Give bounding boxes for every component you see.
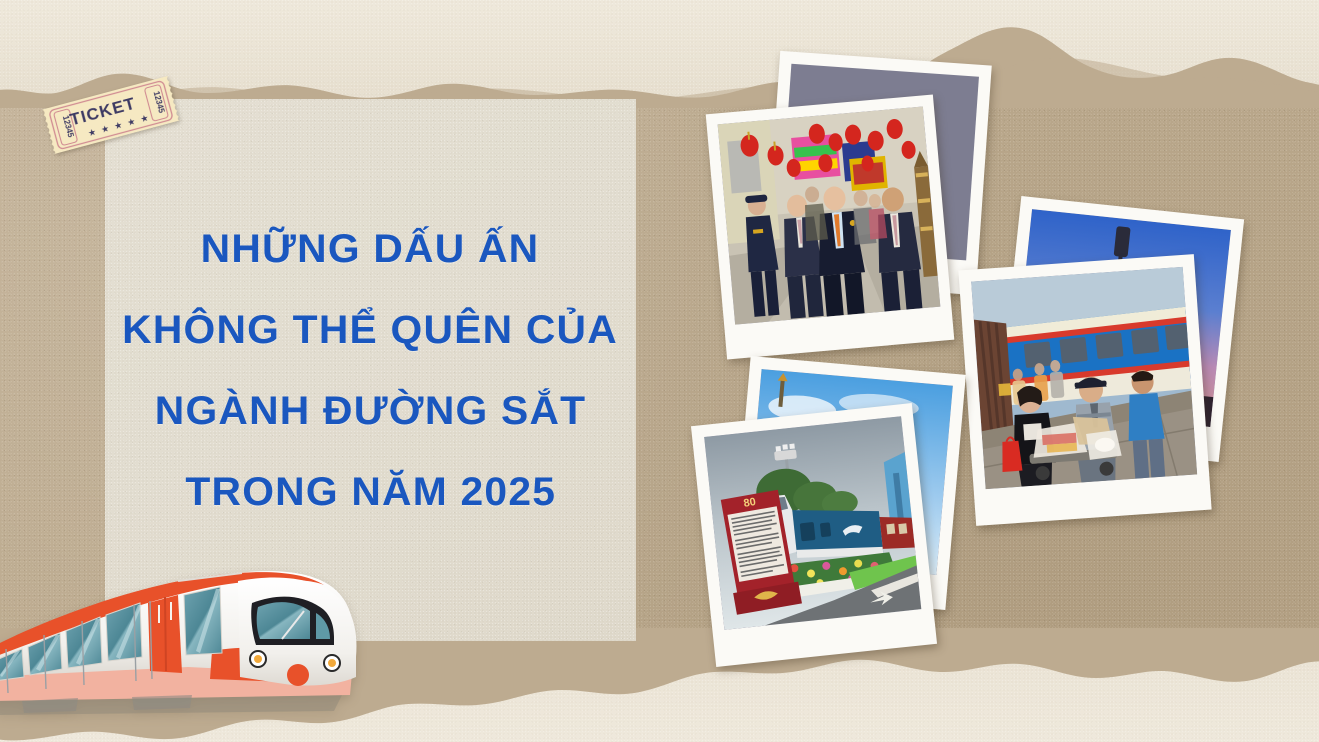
train-svg (0, 545, 402, 725)
photo-officials-walking-image (718, 106, 941, 324)
photo-passengers-unloading[interactable] (958, 254, 1211, 526)
torn-paper-edge-top (0, 0, 1319, 108)
photo-2-art (971, 267, 1197, 489)
photo-1-art (718, 106, 941, 324)
torn-top-mask (0, 0, 1319, 108)
photo-3-art: 80 (704, 416, 921, 630)
photo-officials-walking[interactable] (706, 95, 955, 360)
modern-emu-train-illustration (0, 545, 402, 725)
headline-line-2: KHÔNG THỂ QUÊN CỦA (123, 310, 619, 350)
headline-line-3: NGÀNH ĐƯỜNG SẮT (155, 391, 587, 431)
headline-line-4: TRONG NĂM 2025 (185, 472, 556, 512)
poster-canvas: NHỮNG DẤU ẤN KHÔNG THỂ QUÊN CỦA NGÀNH ĐƯ… (0, 0, 1319, 742)
photo-locomotive-exhibition-image: 80 (704, 416, 921, 630)
svg-text:80: 80 (743, 496, 757, 510)
photo-passengers-unloading-image (971, 267, 1197, 489)
photo-locomotive-exhibition[interactable]: 80 (691, 403, 937, 667)
headline-line-1: NHỮNG DẤU ẤN (201, 229, 540, 269)
